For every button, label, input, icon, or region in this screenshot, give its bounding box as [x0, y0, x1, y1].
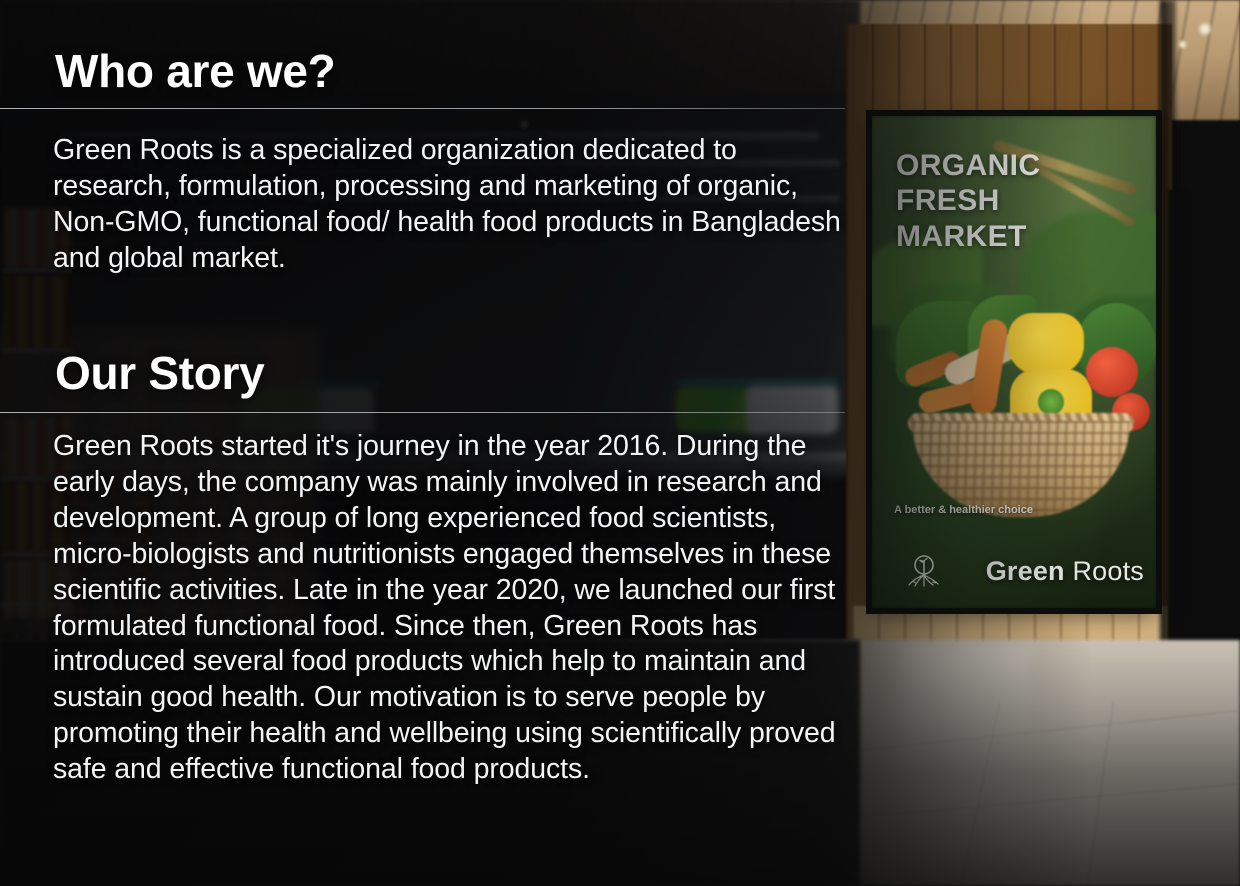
section-body-our-story: Green Roots started it's journey in the … [53, 429, 853, 788]
slide-content: Who are we? Green Roots is a specialized… [0, 0, 1240, 886]
section-body-who-are-we: Green Roots is a specialized organizatio… [53, 133, 843, 277]
section-divider-who-are-we [0, 108, 845, 109]
slide-root: ORGANIC FRESH MARKET [0, 0, 1240, 886]
section-heading-our-story: Our Story [55, 350, 264, 396]
section-heading-who-are-we: Who are we? [55, 48, 335, 94]
section-divider-our-story [0, 412, 845, 413]
